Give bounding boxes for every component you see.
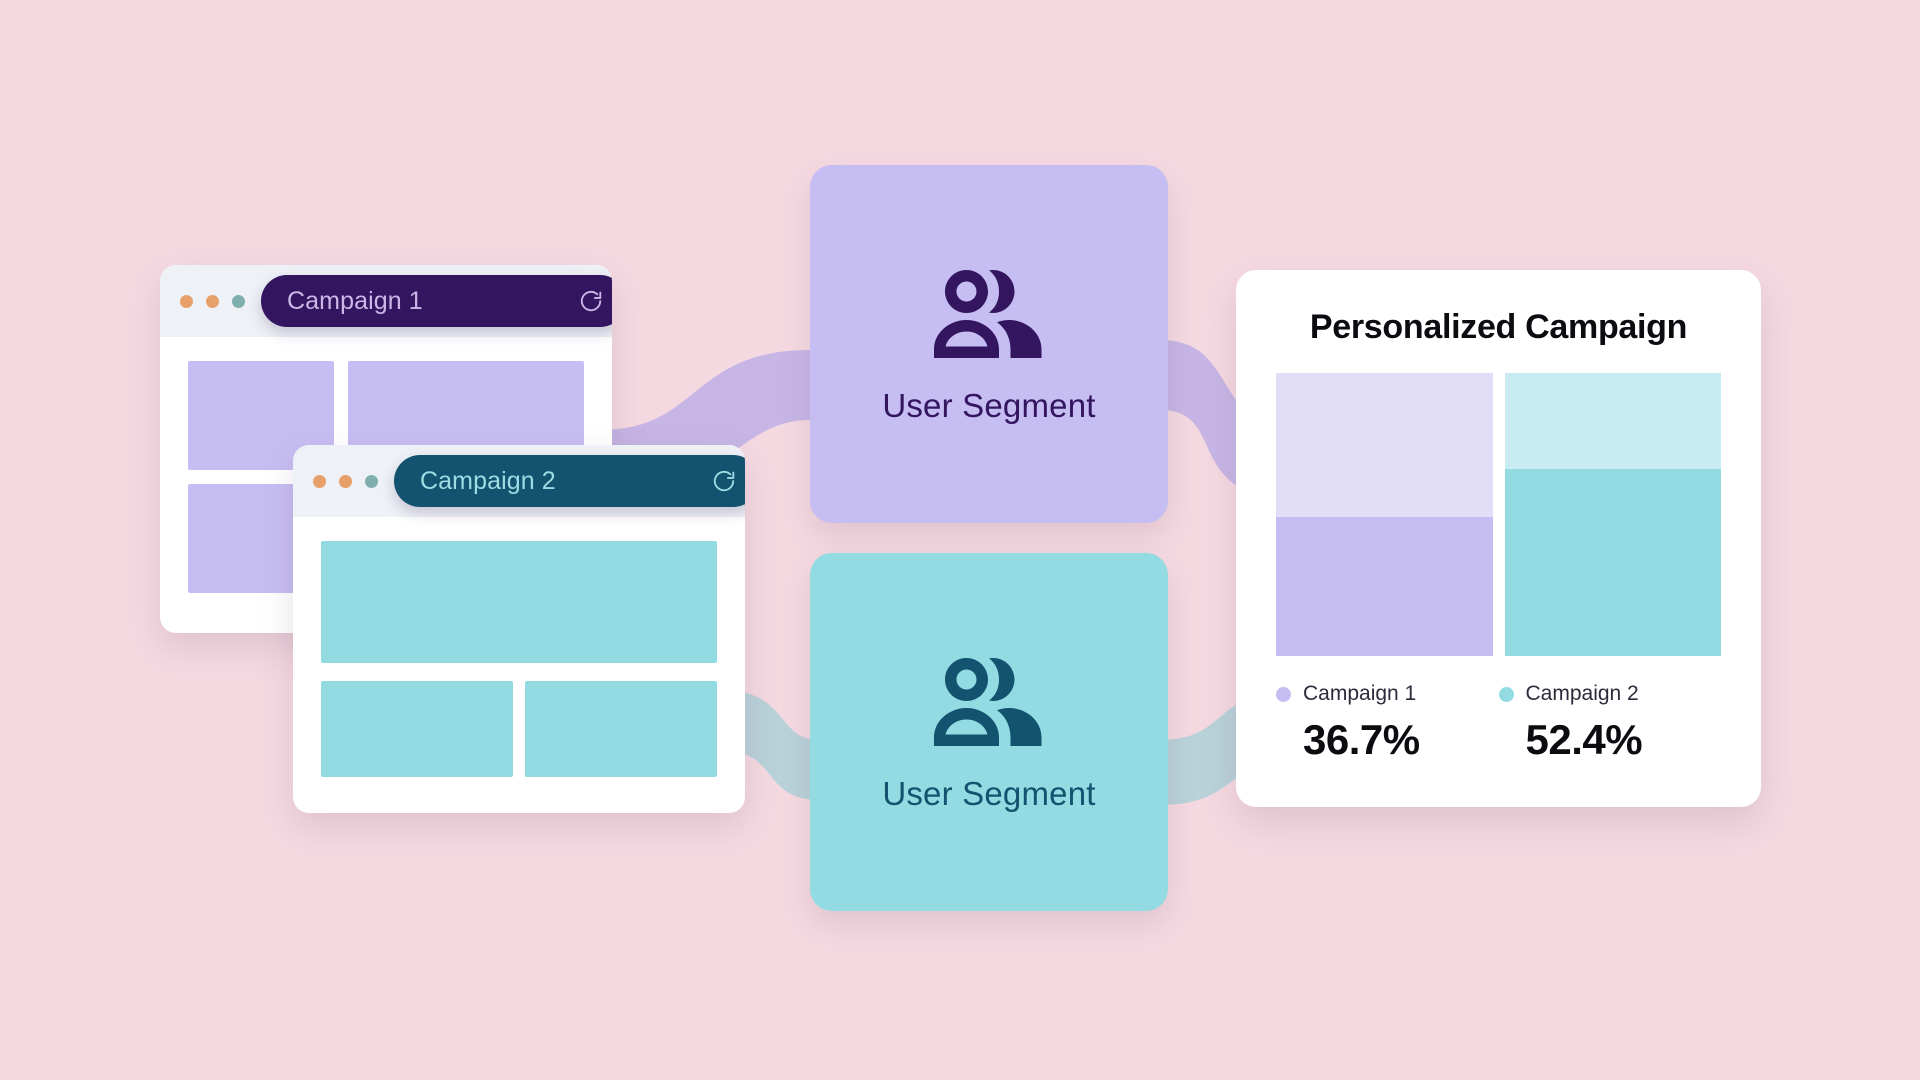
legend-value: 36.7%: [1303, 716, 1499, 764]
user-segment-label: User Segment: [882, 775, 1095, 813]
traffic-light-close-icon[interactable]: [313, 475, 326, 488]
browser-chrome: Campaign 2: [293, 445, 745, 517]
traffic-light-minimize-icon[interactable]: [339, 475, 352, 488]
page-title: Personalized Campaign: [1276, 308, 1721, 347]
legend-label: Campaign 2: [1526, 682, 1639, 706]
content-block-top: [321, 541, 717, 663]
refresh-icon[interactable]: [578, 288, 604, 314]
legend-label: Campaign 1: [1303, 682, 1416, 706]
legend-item-campaign-2: Campaign 2 52.4%: [1499, 682, 1722, 764]
browser-chrome: Campaign 1: [160, 265, 612, 337]
legend-item-campaign-1: Campaign 1 36.7%: [1276, 682, 1499, 764]
results-card: Personalized Campaign Campaign 1 36.7%: [1236, 270, 1761, 807]
address-bar-url: Campaign 1: [287, 287, 578, 316]
address-bar-campaign-2[interactable]: Campaign 2: [394, 455, 745, 507]
address-bar-url: Campaign 2: [420, 467, 711, 496]
address-bar-campaign-1[interactable]: Campaign 1: [261, 275, 612, 327]
traffic-light-maximize-icon[interactable]: [232, 295, 245, 308]
page-content-campaign-2: [293, 517, 745, 807]
refresh-icon[interactable]: [711, 468, 737, 494]
user-segment-card-teal[interactable]: User Segment: [810, 553, 1168, 911]
content-block-bottom-right: [525, 681, 717, 777]
bar-fill-campaign-1: [1276, 517, 1493, 656]
legend-swatch-icon: [1276, 687, 1291, 702]
traffic-light-close-icon[interactable]: [180, 295, 193, 308]
browser-window-campaign-2[interactable]: Campaign 2: [293, 445, 745, 813]
bar-track-campaign-1: [1276, 373, 1493, 656]
legend-value: 52.4%: [1526, 716, 1722, 764]
user-segment-label: User Segment: [882, 387, 1095, 425]
bar-chart: [1276, 373, 1721, 656]
chart-legend: Campaign 1 36.7% Campaign 2 52.4%: [1276, 682, 1721, 764]
traffic-lights: [313, 475, 378, 488]
traffic-light-maximize-icon[interactable]: [365, 475, 378, 488]
content-block-bottom-left: [321, 681, 513, 777]
bar-track-campaign-2: [1505, 373, 1722, 656]
users-group-icon: [930, 264, 1048, 369]
legend-swatch-icon: [1499, 687, 1514, 702]
users-group-icon: [930, 652, 1048, 757]
traffic-lights: [180, 295, 245, 308]
traffic-light-minimize-icon[interactable]: [206, 295, 219, 308]
campaign-flow-diagram: Campaign 1: [0, 0, 1920, 1080]
bar-fill-campaign-2: [1505, 469, 1722, 656]
user-segment-card-purple[interactable]: User Segment: [810, 165, 1168, 523]
